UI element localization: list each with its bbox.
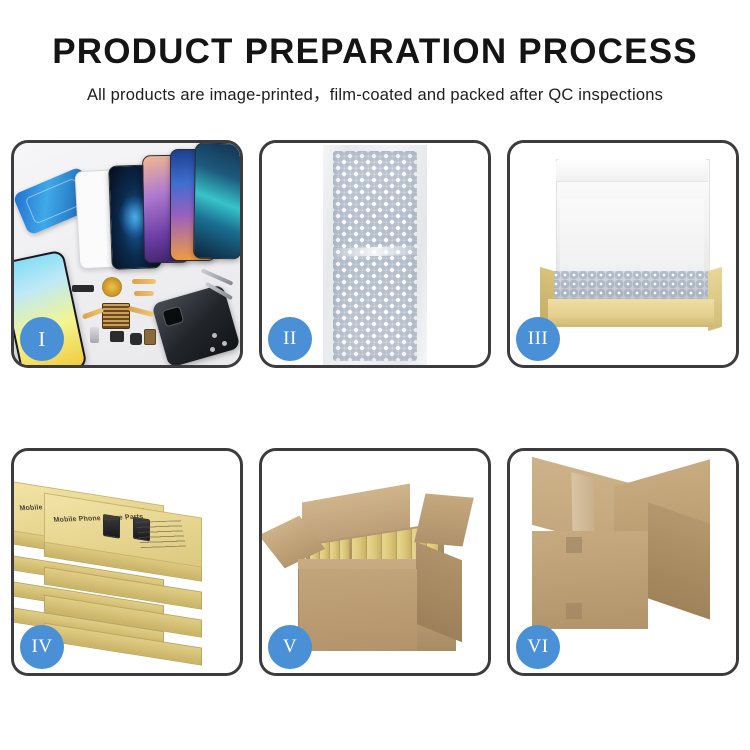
header: PRODUCT PREPARATION PROCESS All products… bbox=[0, 0, 750, 105]
flex-cable-part-image bbox=[134, 291, 154, 296]
foam-liner-image bbox=[560, 199, 704, 271]
carton-front-panel-image bbox=[298, 569, 417, 651]
flex-cable-part-image bbox=[132, 279, 156, 284]
product-preparation-infographic: PRODUCT PREPARATION PROCESS All products… bbox=[0, 0, 750, 750]
small-connector-part-image bbox=[72, 285, 94, 292]
carton-front-panel-image bbox=[532, 531, 648, 629]
vibrator-part-image bbox=[130, 333, 142, 345]
process-step-panel-1: I bbox=[11, 140, 243, 368]
step-badge-6: VI bbox=[516, 625, 560, 669]
step-badge-1: I bbox=[20, 317, 64, 361]
step-badge-4: IV bbox=[20, 625, 64, 669]
box-front-wall-image bbox=[548, 299, 714, 327]
teal-phone-screen-image bbox=[193, 143, 240, 259]
process-step-panel-2: II bbox=[259, 140, 491, 368]
carton-seam-image bbox=[566, 537, 582, 553]
step-badge-5: V bbox=[268, 625, 312, 669]
carton-right-flap-image bbox=[414, 494, 474, 547]
flex-cable-part-image bbox=[82, 307, 104, 319]
speaker-coil-part-image bbox=[102, 277, 122, 297]
page-title: PRODUCT PREPARATION PROCESS bbox=[0, 34, 750, 69]
chip-part-image bbox=[144, 329, 156, 345]
camera-module-part-image bbox=[110, 331, 124, 342]
metal-bracket-part-image bbox=[90, 327, 99, 343]
process-step-panel-6: VI bbox=[507, 448, 739, 676]
process-step-panel-4: Mobile Phone Spare Parts bbox=[11, 448, 243, 676]
page-subtitle: All products are image-printed，film-coat… bbox=[0, 81, 750, 105]
step-badge-3: III bbox=[516, 317, 560, 361]
flex-cable-part-image bbox=[128, 306, 154, 317]
mesh-grid-part-image bbox=[102, 303, 130, 329]
process-step-panel-5: V bbox=[259, 448, 491, 676]
carton-side-panel-image bbox=[648, 502, 710, 619]
screw-part-image bbox=[212, 333, 217, 338]
bubble-wrap-bag-image bbox=[323, 145, 427, 365]
process-step-grid: I II III bbox=[11, 140, 739, 676]
step-badge-2: II bbox=[268, 317, 312, 361]
screw-part-image bbox=[222, 341, 227, 346]
box-lid-tab-image bbox=[556, 159, 708, 182]
carton-seam-image bbox=[566, 603, 582, 619]
screw-part-image bbox=[210, 347, 215, 352]
process-step-panel-3: III bbox=[507, 140, 739, 368]
